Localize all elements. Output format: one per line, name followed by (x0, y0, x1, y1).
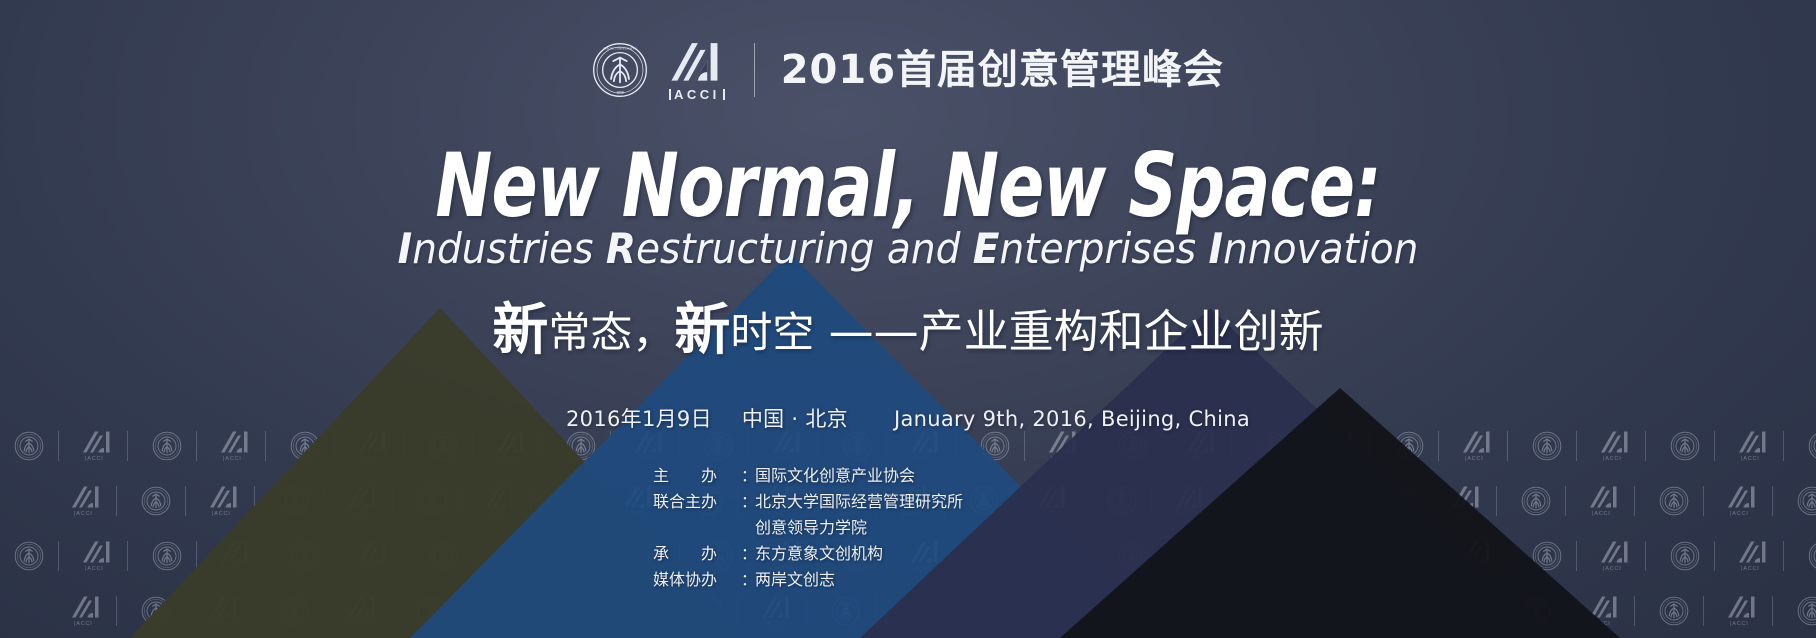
summit-name: 2016首届创意管理峰会 (781, 50, 1224, 90)
svg-text:|ACCI: |ACCI (1730, 511, 1749, 517)
title-en2-segment-5: nterprises (1000, 224, 1209, 273)
title-en2-segment-4: E (973, 224, 1000, 273)
pattern-divider (1645, 541, 1656, 571)
title-en2-segment-3: estructuring and (636, 224, 973, 273)
pattern-divider (1634, 486, 1645, 516)
organizer-colon: ： (741, 541, 755, 567)
organizers-block: 主 办：国际文化创意产业协会联合主办：北京大学国际经营管理研究所创意领导力学院承… (653, 463, 963, 593)
pattern-peking-seal-icon (1794, 528, 1816, 583)
organizer-row: 承 办：东方意象文创机构 (653, 541, 963, 567)
organizer-row: 创意领导力学院 (653, 515, 963, 541)
pattern-divider (1703, 596, 1714, 626)
organizer-label: 主 办 (653, 463, 741, 489)
event-date-location: 2016年1月9日 中国 · 北京 January 9th, 2016, Bei… (0, 403, 1816, 433)
header-divider (754, 43, 755, 97)
svg-text:|ACCI: |ACCI (1730, 621, 1749, 627)
title-chinese-part-2: 常态， (548, 308, 674, 357)
pattern-divider (116, 596, 127, 626)
title-chinese-part-3: 新 (674, 298, 730, 363)
pattern-iacci-logo-icon: |ACCI (1714, 473, 1772, 528)
pattern-peking-seal-icon (1656, 528, 1714, 583)
organizer-value: 国际文化创意产业协会 (755, 463, 915, 489)
pattern-divider (1783, 431, 1794, 461)
pattern-divider (58, 431, 69, 461)
title-chinese-part-5: ——产业重构和企业创新 (814, 305, 1323, 358)
organizer-colon: ： (741, 463, 755, 489)
pattern-divider (1703, 486, 1714, 516)
title-en2-segment-6: I (1209, 224, 1224, 273)
svg-text:|ACCI: |ACCI (85, 456, 104, 462)
organizer-value: 北京大学国际经营管理研究所 (755, 489, 963, 515)
title-english-primary: New Normal, New Space: (127, 142, 1689, 230)
organizer-row: 主 办：国际文化创意产业协会 (653, 463, 963, 489)
pattern-divider (1714, 541, 1725, 571)
iacci-logo-icon (669, 38, 725, 84)
pattern-divider (1772, 486, 1783, 516)
pattern-divider (58, 541, 69, 571)
pattern-iacci-logo-icon: |ACCI (58, 583, 116, 638)
pattern-divider (1634, 596, 1645, 626)
title-en2-segment-1: ndustries (412, 224, 606, 273)
pattern-peking-seal-icon (1645, 583, 1703, 638)
organizer-colon: ： (741, 567, 755, 593)
peking-university-seal-icon: PEKING UNIVERSITY 1898 (592, 42, 648, 98)
title-chinese-part-4: 时空 (730, 308, 814, 357)
pattern-divider (1783, 541, 1794, 571)
pattern-iacci-logo-icon: |ACCI (1725, 528, 1783, 583)
pattern-divider (1645, 431, 1656, 461)
svg-text:|ACCI: |ACCI (1741, 456, 1760, 462)
svg-text:|ACCI: |ACCI (74, 621, 93, 627)
title-chinese-part-1: 新 (492, 298, 548, 363)
banner-header: PEKING UNIVERSITY 1898 ACCI 2016首届创意管理峰会 (0, 38, 1816, 102)
organizer-colon: ： (741, 489, 755, 515)
pattern-peking-seal-icon (1783, 583, 1816, 638)
organizer-value: 创意领导力学院 (755, 515, 867, 541)
pattern-divider (1772, 596, 1783, 626)
pattern-peking-seal-icon (1645, 473, 1703, 528)
pattern-iacci-logo-icon: |ACCI (58, 473, 116, 528)
pattern-peking-seal-icon (0, 528, 58, 583)
title-en2-segment-2: R (606, 224, 636, 273)
pattern-iacci-logo-icon: |ACCI (1714, 583, 1772, 638)
organizer-value: 东方意象文创机构 (755, 541, 883, 567)
pattern-peking-seal-icon (1783, 473, 1816, 528)
organizer-label: 承 办 (653, 541, 741, 567)
event-banner: |ACCI|ACCI|ACCI|ACCI|ACCI|ACCI|ACCI|ACCI… (0, 0, 1816, 638)
organizer-label: 联合主办 (653, 489, 741, 515)
title-en2-segment-7: nnovation (1223, 224, 1418, 273)
organizer-row: 联合主办：北京大学国际经营管理研究所 (653, 489, 963, 515)
svg-text:|ACCI: |ACCI (74, 511, 93, 517)
svg-text:PEKING UNIVERSITY: PEKING UNIVERSITY (603, 46, 637, 50)
date-english: January 9th, 2016, Beijing, China (894, 407, 1250, 431)
title-english-secondary: Industries Restructuring and Enterprises… (64, 225, 1753, 273)
pattern-iacci-logo-icon: |ACCI (69, 528, 127, 583)
organizer-value: 两岸文创志 (755, 567, 835, 593)
organizer-row: 媒体协办：两岸文创志 (653, 567, 963, 593)
pattern-divider (116, 486, 127, 516)
svg-text:|ACCI: |ACCI (85, 566, 104, 572)
title-en2-segment-0: I (398, 224, 413, 273)
title-chinese: 新常态，新时空 ——产业重构和企业创新 (0, 303, 1816, 359)
date-chinese: 2016年1月9日 (566, 407, 712, 431)
pattern-divider (1714, 431, 1725, 461)
svg-text:1898: 1898 (616, 91, 623, 95)
location-chinese: 中国 · 北京 (742, 407, 848, 431)
svg-text:|ACCI: |ACCI (1741, 566, 1760, 572)
organizer-label: 媒体协办 (653, 567, 741, 593)
iacci-wordmark: ACCI (666, 87, 728, 102)
iacci-logo: ACCI (666, 38, 728, 102)
